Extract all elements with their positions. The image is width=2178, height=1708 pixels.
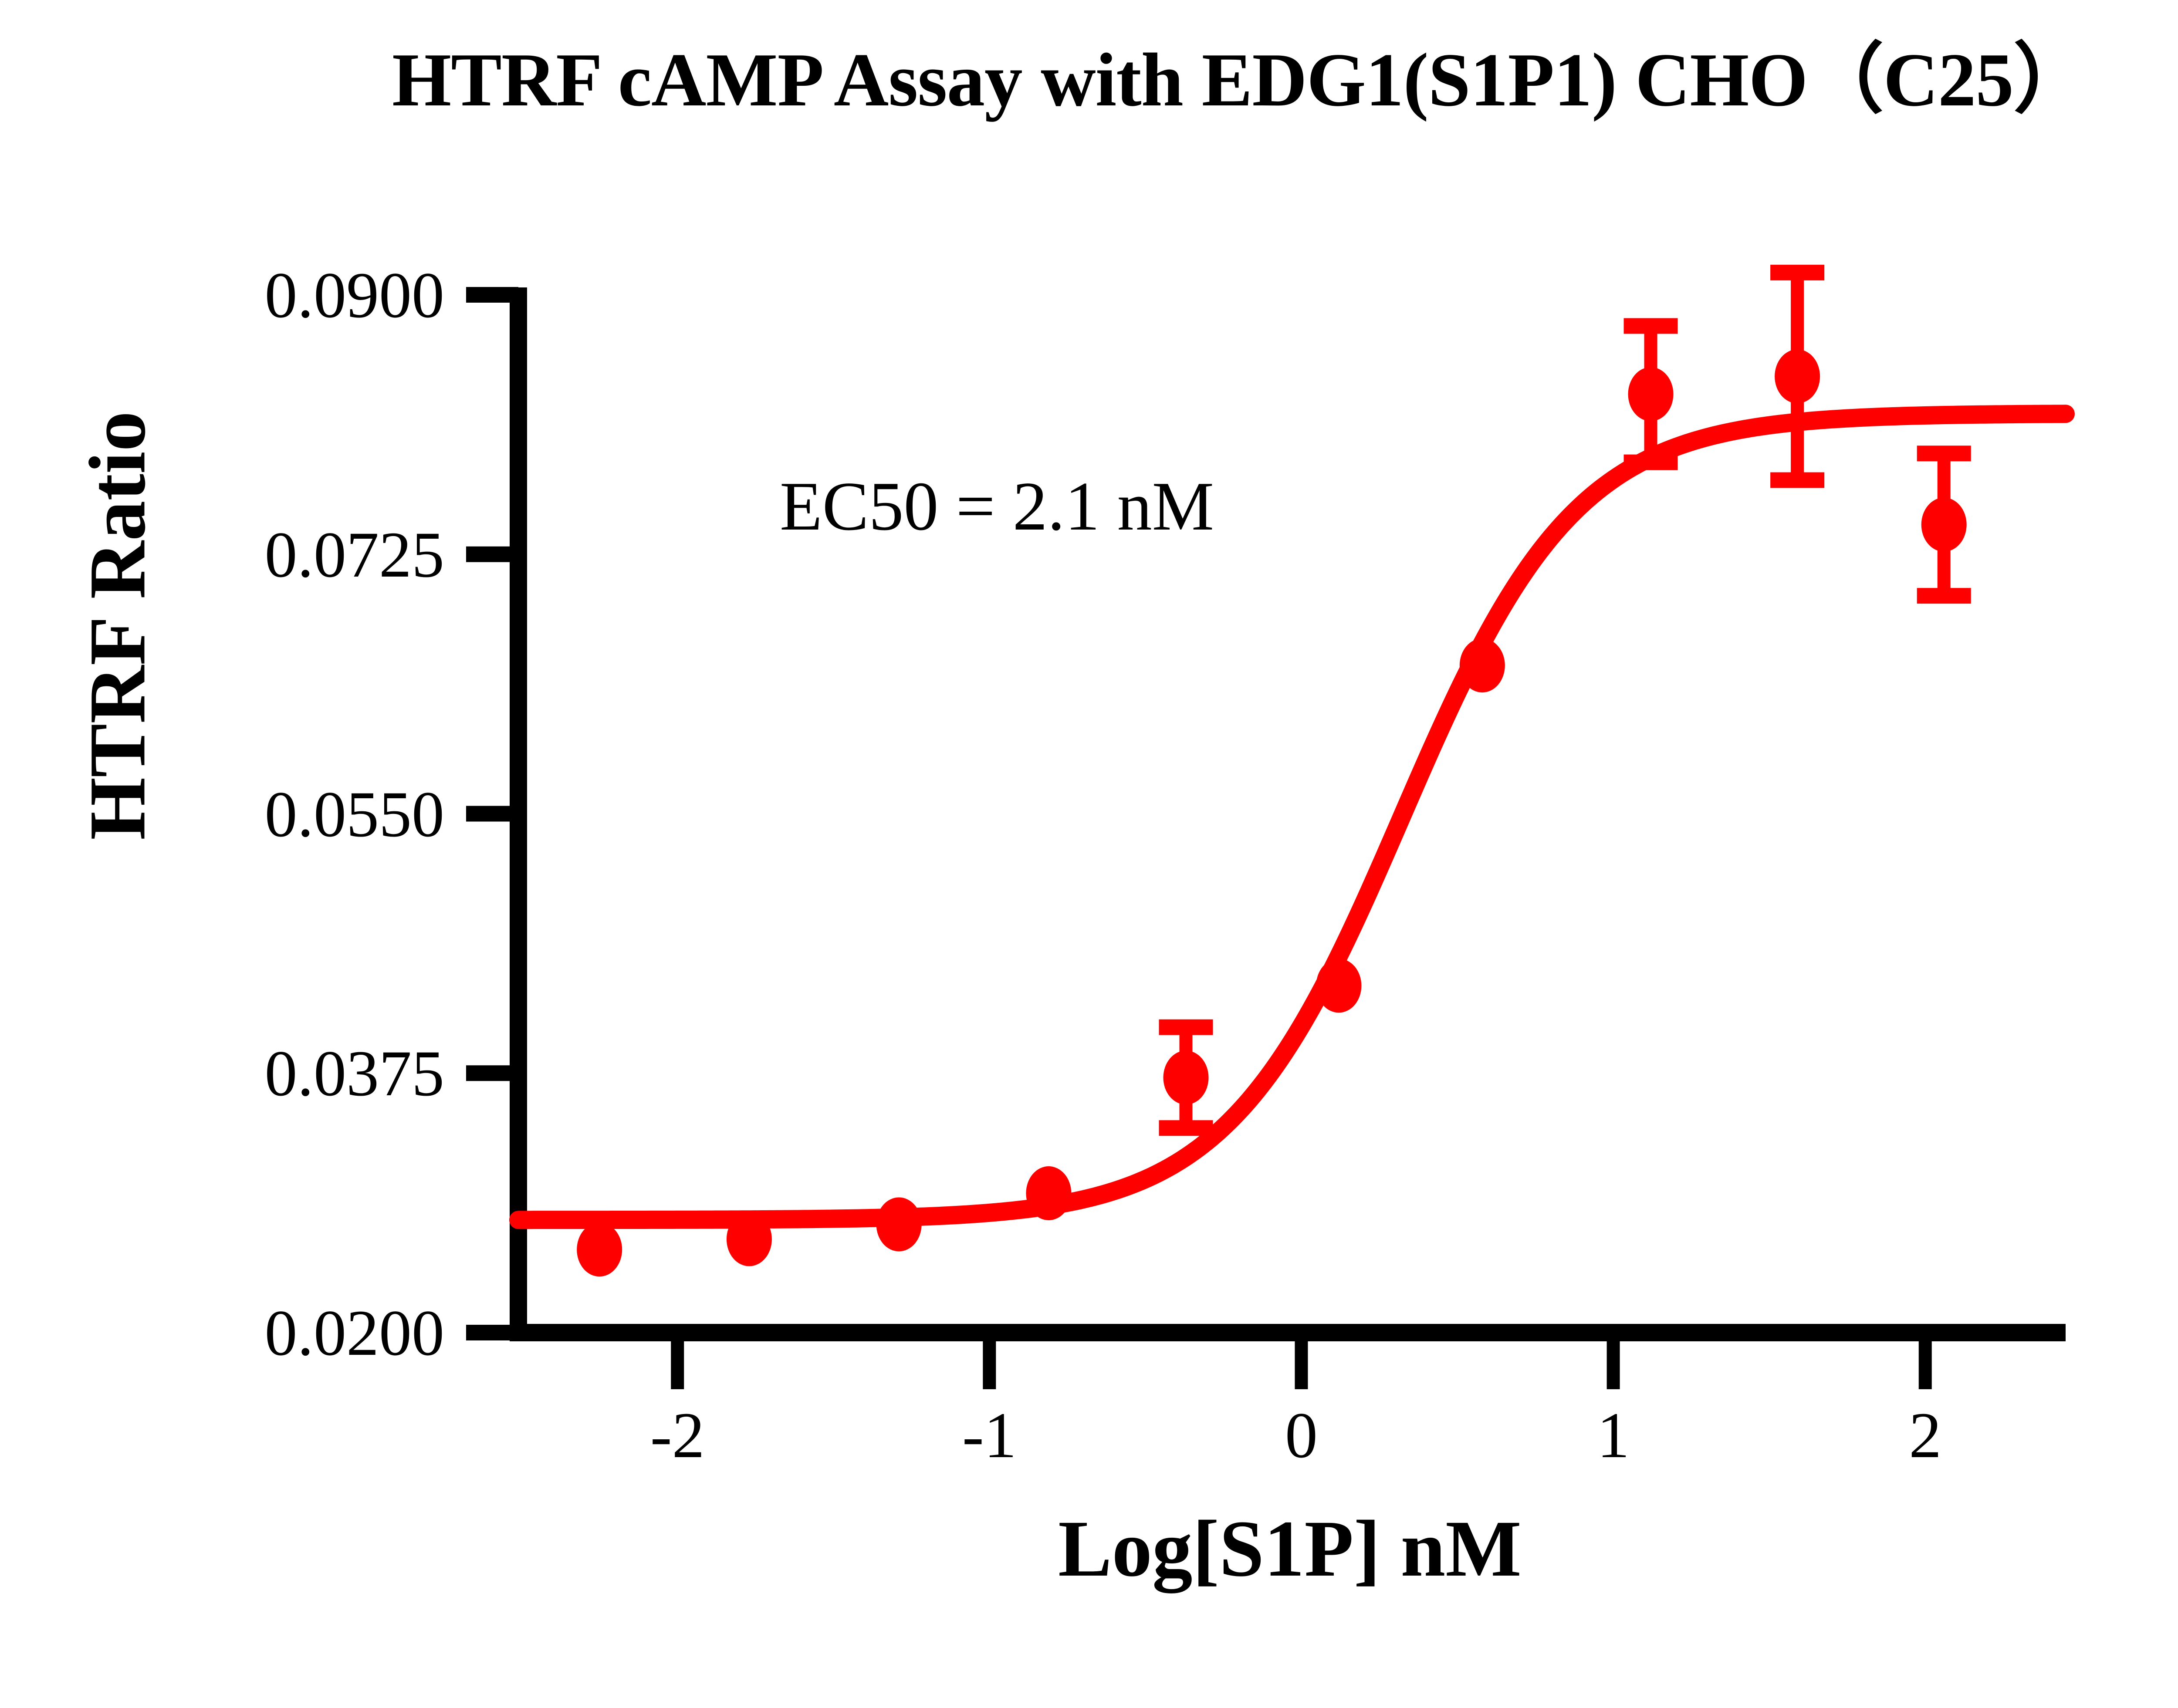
data-point-marker[interactable] [1316,959,1361,1013]
data-point-marker[interactable] [577,1222,622,1276]
data-point-marker[interactable] [1775,349,1820,403]
data-point-marker[interactable] [727,1212,772,1266]
x-axis-title: Log[S1P] nM [514,1502,2066,1595]
x-tick-label: 0 [1214,1398,1388,1473]
figure-canvas: HTRF cAMP Assay with EDG1(S1P1) CHO（C25）… [0,0,2178,1708]
data-point-marker[interactable] [1628,367,1674,421]
y-tick-label: 0.0550 [113,777,444,852]
y-tick-label: 0.0725 [113,517,444,592]
axis-lines [510,287,2066,1333]
x-tick-label: -1 [902,1398,1076,1473]
x-tick-label: 1 [1526,1398,1701,1473]
ec50-annotation: EC50 = 2.1 nM [780,466,1214,547]
x-tick-label: 2 [1838,1398,2012,1473]
data-point-marker[interactable] [1460,638,1505,692]
error-bars [1159,273,1971,1128]
data-point-marker[interactable] [1921,498,1967,552]
fit-curve [518,414,2066,1220]
y-tick-label: 0.0900 [113,258,444,333]
y-tick-label: 0.0200 [113,1296,444,1370]
data-point-marker[interactable] [876,1197,922,1251]
data-point-marker[interactable] [1163,1050,1209,1104]
data-point-marker[interactable] [1026,1166,1071,1220]
x-tick-label: -2 [590,1398,764,1473]
y-tick-label: 0.0375 [113,1036,444,1111]
